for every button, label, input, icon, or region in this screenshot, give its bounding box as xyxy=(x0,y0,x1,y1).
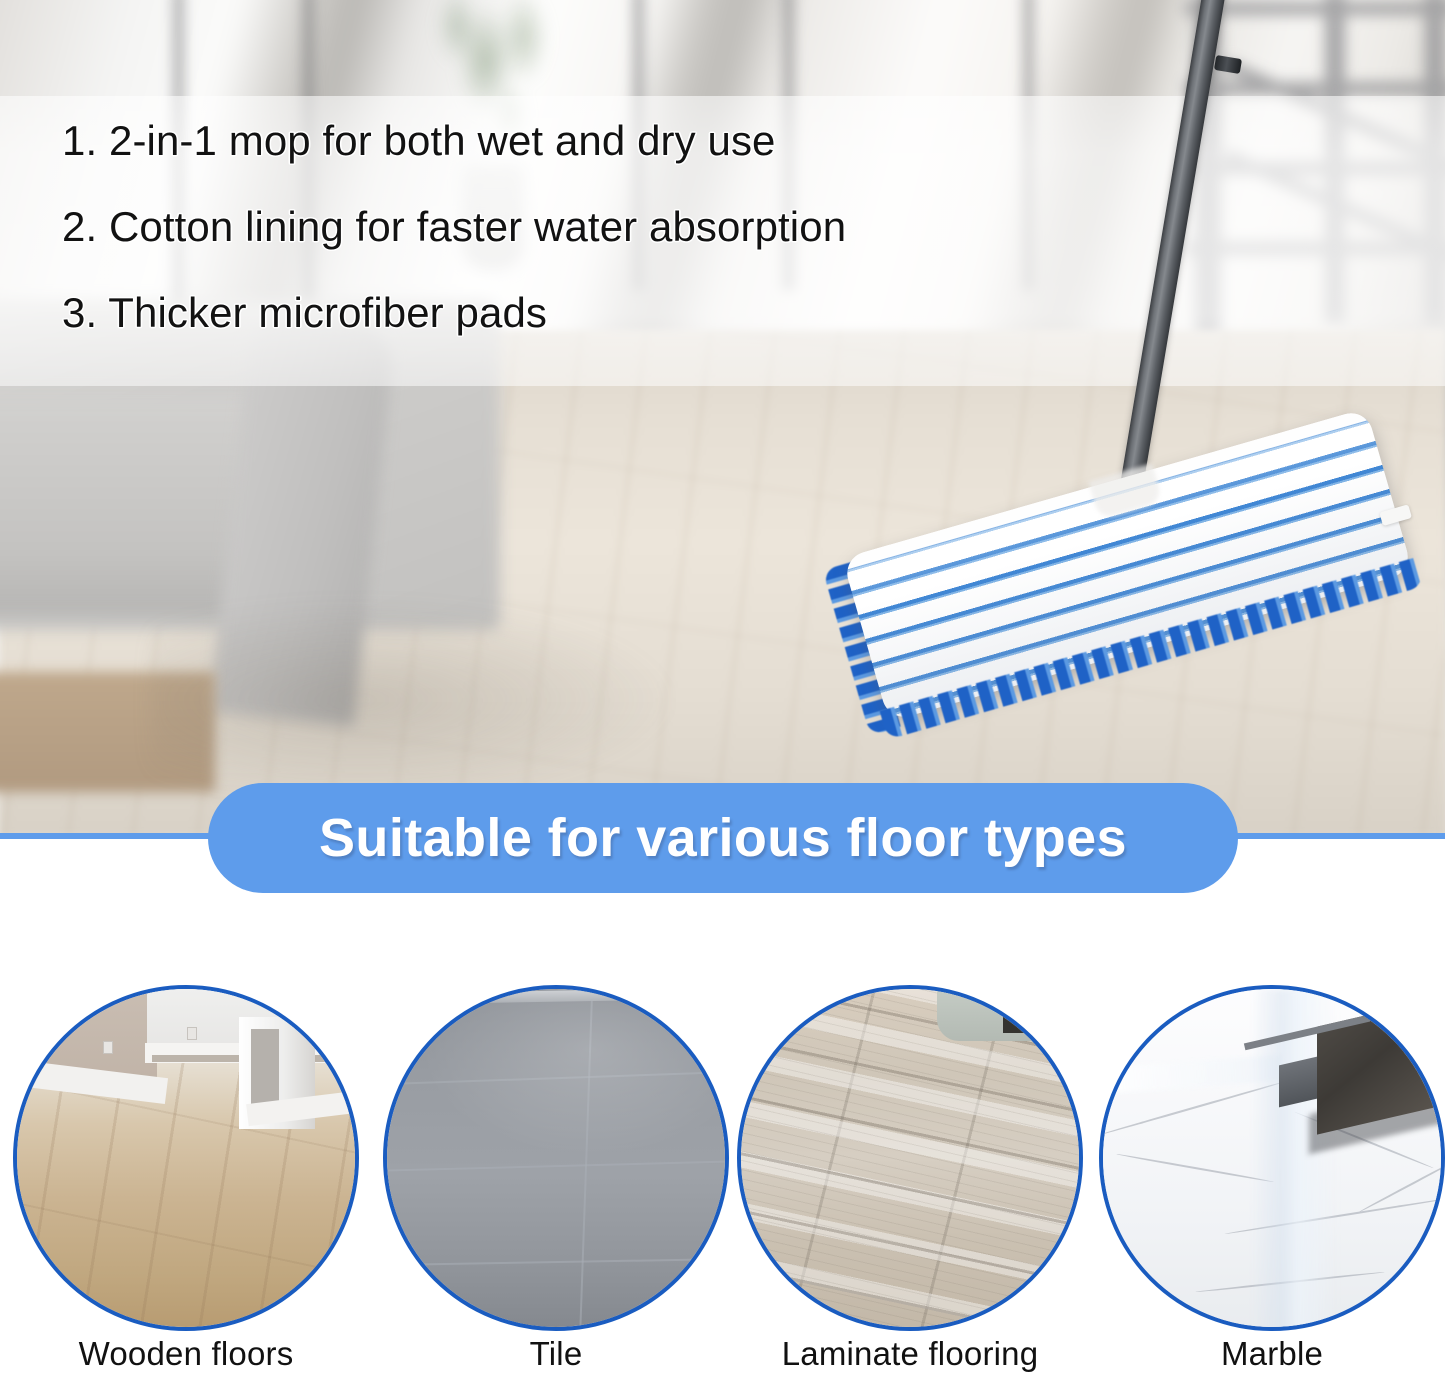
floor-type-card-marble[interactable]: Marble xyxy=(1099,985,1445,1331)
floor-type-gallery: Wooden floors Tile xyxy=(0,985,1445,1389)
floor-type-label-tile: Tile xyxy=(383,1335,729,1373)
floor-type-image-laminate-flooring xyxy=(737,985,1083,1331)
floor-type-card-tile[interactable]: Tile xyxy=(383,985,729,1331)
floor-type-card-laminate-flooring[interactable]: Laminate flooring xyxy=(737,985,1083,1331)
product-infographic: 1. 2-in-1 mop for both wet and dry use 2… xyxy=(0,0,1445,1389)
laminate-floor-photo xyxy=(741,989,1079,1327)
floor-type-image-wooden-floors xyxy=(13,985,359,1331)
floor-type-label-laminate-flooring: Laminate flooring xyxy=(737,1335,1083,1373)
hero-photo-section: 1. 2-in-1 mop for both wet and dry use 2… xyxy=(0,0,1445,836)
handle-collar xyxy=(1214,55,1242,74)
tile-floor-photo xyxy=(387,989,725,1327)
floor-types-banner: Suitable for various floor types xyxy=(208,783,1238,893)
floor-type-label-marble: Marble xyxy=(1099,1335,1445,1373)
wooden-floor-photo xyxy=(17,989,355,1327)
outlet-icon xyxy=(103,1041,113,1054)
tile-sheen xyxy=(387,989,725,1327)
banner-title: Suitable for various floor types xyxy=(319,807,1127,869)
floor-type-image-tile xyxy=(383,985,729,1331)
floor-type-image-marble xyxy=(1099,985,1445,1331)
floor-type-card-wooden-floors[interactable]: Wooden floors xyxy=(13,985,359,1331)
outlet-icon xyxy=(187,1027,197,1040)
wall-nook xyxy=(251,1029,279,1111)
marble-floor-photo xyxy=(1103,989,1441,1327)
floor-type-label-wooden-floors: Wooden floors xyxy=(13,1335,359,1373)
dark-background-area xyxy=(1003,989,1083,1033)
mop-product xyxy=(0,0,1445,836)
